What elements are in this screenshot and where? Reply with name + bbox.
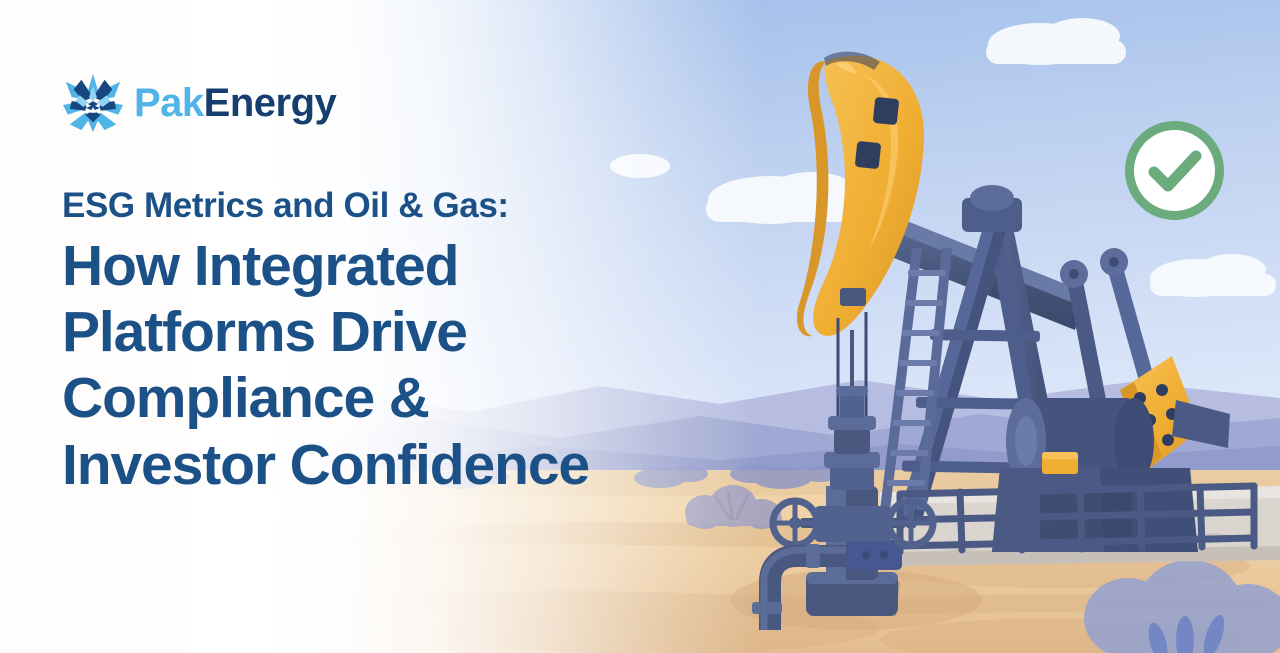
- pakenergy-wordmark: PakEnergy: [134, 83, 336, 123]
- pakenergy-wolf-mark-icon: [62, 72, 124, 134]
- title-line-4: Investor Confidence: [62, 432, 762, 498]
- logo-word-energy: Energy: [204, 81, 337, 125]
- hero-banner: PakEnergy ESG Metrics and Oil & Gas: How…: [0, 0, 1280, 653]
- headline-block: ESG Metrics and Oil & Gas: How Integrate…: [62, 186, 762, 498]
- valve-wheel-left: [773, 501, 820, 545]
- title-line-1: How Integrated: [62, 233, 762, 299]
- platform-railing: [900, 486, 1254, 552]
- title-line-2: Platforms Drive: [62, 299, 762, 365]
- title-line-3: Compliance &: [62, 365, 762, 431]
- valve-wheel-right: [886, 501, 933, 545]
- pakenergy-logo[interactable]: PakEnergy: [62, 72, 336, 134]
- headline-eyebrow: ESG Metrics and Oil & Gas:: [62, 186, 762, 225]
- rod-clamp: [840, 288, 866, 306]
- check-circle-icon: [1122, 118, 1227, 223]
- page-title: How Integrated Platforms Drive Complianc…: [62, 233, 762, 497]
- logo-word-pak: Pak: [134, 81, 204, 125]
